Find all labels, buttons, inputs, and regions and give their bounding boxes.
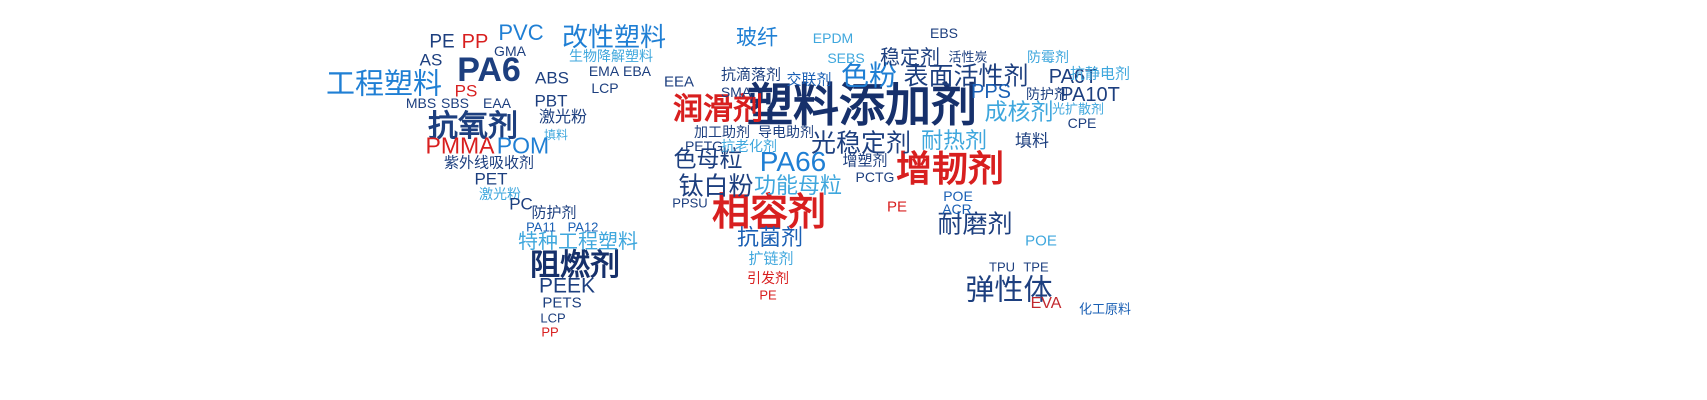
cloud-word[interactable]: POE	[1025, 234, 1057, 249]
cloud-word[interactable]: PPSU	[672, 197, 707, 210]
cloud-word[interactable]: PCTG	[856, 170, 895, 184]
cloud-word[interactable]: PETG	[685, 139, 723, 153]
cloud-word[interactable]: 活性炭	[948, 52, 987, 65]
cloud-word[interactable]: 交联剂	[786, 73, 831, 88]
cloud-word[interactable]: 改性塑料	[562, 25, 666, 51]
cloud-word[interactable]: EAA	[483, 96, 511, 110]
cloud-word[interactable]: 生物降解塑料	[569, 50, 653, 64]
cloud-word[interactable]: ABS	[535, 70, 569, 87]
cloud-word[interactable]: 引发剂	[747, 272, 789, 286]
cloud-word[interactable]: 填料	[544, 129, 568, 141]
cloud-word[interactable]: PPS	[971, 82, 1011, 102]
cloud-word[interactable]: 填料	[1015, 134, 1049, 151]
cloud-word[interactable]: LCP	[540, 312, 565, 325]
cloud-word[interactable]: EMA	[589, 64, 619, 78]
cloud-word[interactable]: PE	[887, 200, 907, 215]
cloud-word[interactable]: PP	[541, 326, 558, 339]
cloud-word[interactable]: 耐热剂	[921, 131, 987, 153]
cloud-word[interactable]: 防护剂	[1026, 88, 1068, 102]
cloud-word[interactable]: PA12	[568, 221, 599, 234]
cloud-word[interactable]: PEEK	[539, 276, 595, 297]
cloud-word[interactable]: LCP	[591, 81, 618, 95]
cloud-word[interactable]: TPU	[989, 261, 1015, 274]
cloud-word[interactable]: 功能母粒	[754, 176, 842, 198]
cloud-word[interactable]: PE	[429, 33, 454, 52]
cloud-word[interactable]: PA11	[526, 221, 556, 234]
cloud-word[interactable]: SBS	[441, 96, 469, 110]
cloud-word[interactable]: TPE	[1023, 261, 1048, 274]
cloud-word[interactable]: SEBS	[827, 51, 864, 65]
cloud-word[interactable]: 抗老化剂	[721, 140, 777, 154]
cloud-word[interactable]: 抗菌剂	[737, 228, 803, 250]
cloud-word[interactable]: 导电助剂	[758, 126, 814, 140]
word-cloud-canvas: 塑料添加剂相容剂增韧剂阻燃剂润滑剂工程塑料抗氧剂PA6改性塑料色粉表面活性剂光稳…	[0, 0, 1707, 400]
cloud-word[interactable]: 防护剂	[531, 206, 576, 221]
cloud-word[interactable]: EEA	[664, 75, 694, 90]
cloud-word[interactable]: 玻纤	[736, 28, 778, 49]
cloud-word[interactable]: EVA	[1031, 296, 1062, 312]
cloud-word[interactable]: PBT	[534, 93, 567, 110]
cloud-word[interactable]: SMA	[721, 85, 751, 99]
cloud-word[interactable]: 增韧剂	[896, 152, 1004, 188]
cloud-word[interactable]: EBA	[623, 64, 651, 78]
cloud-word[interactable]: 防霉剂	[1027, 51, 1069, 65]
cloud-word[interactable]: PVC	[498, 22, 543, 44]
cloud-word[interactable]: 成核剂	[985, 102, 1054, 125]
cloud-word[interactable]: 激光粉	[539, 109, 587, 125]
cloud-word[interactable]: CPE	[1068, 116, 1097, 130]
cloud-word[interactable]: 增塑剂	[842, 154, 887, 169]
cloud-word[interactable]: 抗静电剂	[1070, 67, 1130, 82]
cloud-word[interactable]: AS	[420, 52, 443, 69]
cloud-word[interactable]: PET	[474, 171, 507, 188]
cloud-word[interactable]: EBS	[930, 26, 958, 40]
cloud-word[interactable]: 紫外线吸收剂	[444, 156, 534, 171]
cloud-word[interactable]: 化工原料	[1079, 304, 1131, 317]
cloud-word[interactable]: PE	[759, 289, 776, 302]
cloud-word[interactable]: EPDM	[813, 31, 853, 45]
cloud-word[interactable]: GMA	[494, 44, 526, 58]
cloud-word[interactable]: ACR	[942, 202, 972, 216]
cloud-word[interactable]: PP	[462, 32, 489, 52]
cloud-word[interactable]: 抗滴落剂	[721, 68, 781, 83]
cloud-word[interactable]: MBS	[406, 96, 436, 110]
cloud-word[interactable]: PC	[509, 196, 533, 213]
cloud-word[interactable]: 稳定剂	[880, 47, 940, 67]
cloud-word[interactable]: PETS	[542, 296, 581, 311]
cloud-word[interactable]: 扩链剂	[748, 252, 793, 267]
